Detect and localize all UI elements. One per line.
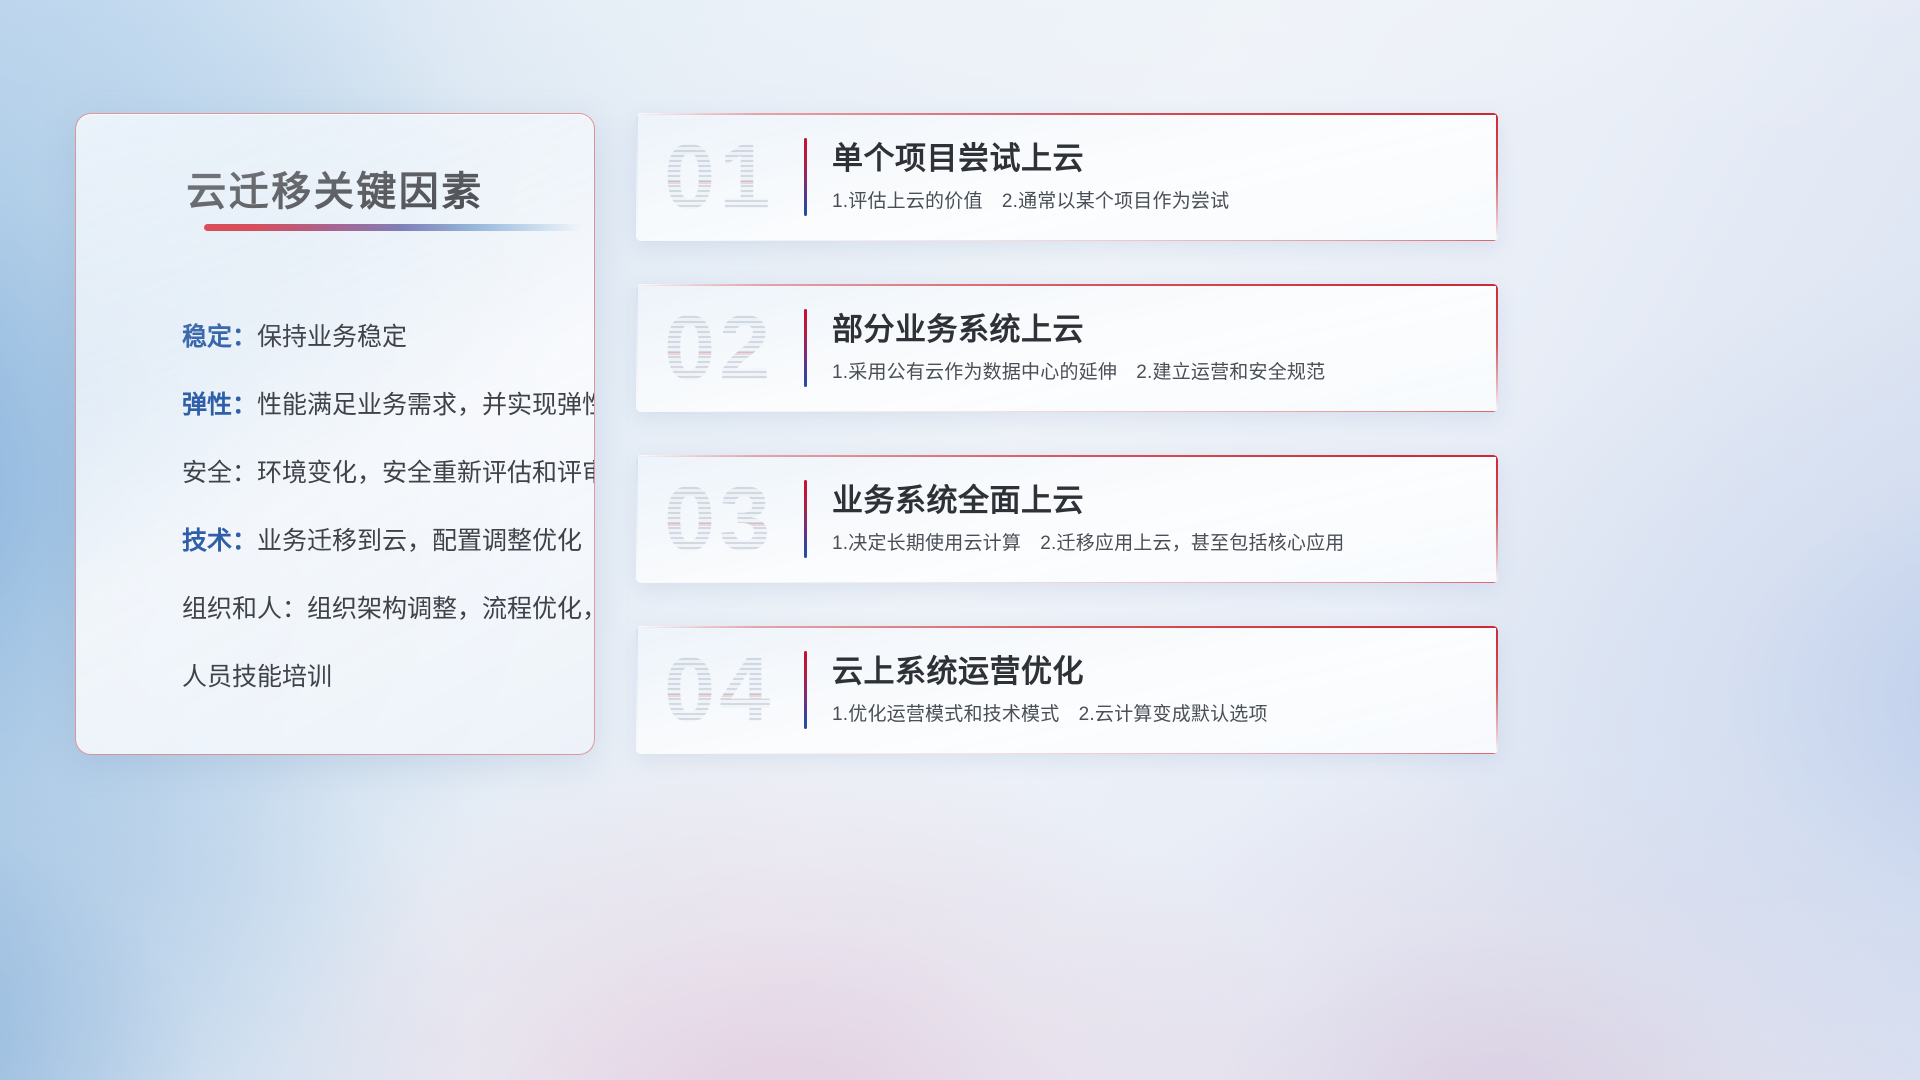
stage-divider-bar xyxy=(804,480,807,558)
stage-card-body: 单个项目尝试上云1.评估上云的价值 2.通常以某个项目作为尝试 xyxy=(832,139,1478,215)
page-title: 云迁移关键因素 xyxy=(76,159,594,217)
stage-card[interactable]: 0101单个项目尝试上云1.评估上云的价值 2.通常以某个项目作为尝试 xyxy=(636,113,1498,241)
stage-description: 1.评估上云的价值 2.通常以某个项目作为尝试 xyxy=(832,188,1478,215)
factor-text: 性能满足业务需求，并实现弹性 xyxy=(257,391,595,419)
card-edge-bottom xyxy=(636,240,1498,242)
stage-title: 部分业务系统上云 xyxy=(832,310,1478,350)
stage-description: 1.决定长期使用云计算 2.迁移应用上云，甚至包括核心应用 xyxy=(832,530,1478,557)
factor-row: 技术：业务迁移到云，配置调整优化 xyxy=(182,526,576,557)
factor-text: 组织架构调整，流程优化， xyxy=(307,595,595,623)
stage-card-body: 部分业务系统上云1.采用公有云作为数据中心的延伸 2.建立运营和安全规范 xyxy=(832,310,1478,386)
factor-text: 业务迁移到云，配置调整优化 xyxy=(257,527,582,555)
factor-row: 弹性：性能满足业务需求，并实现弹性 xyxy=(182,390,576,421)
stage-description: 1.采用公有云作为数据中心的延伸 2.建立运营和安全规范 xyxy=(832,359,1478,386)
factor-list: 稳定：保持业务稳定弹性：性能满足业务需求，并实现弹性安全：环境变化，安全重新评估… xyxy=(182,322,576,693)
card-edge-top xyxy=(636,626,1498,628)
stage-title: 单个项目尝试上云 xyxy=(832,139,1478,179)
card-edge-right xyxy=(1496,113,1498,241)
stage-description: 1.优化运营模式和技术模式 2.云计算变成默认选项 xyxy=(832,701,1478,728)
factor-label: 稳定： xyxy=(182,323,257,351)
stage-divider-bar xyxy=(804,138,807,216)
stage-card-body: 云上系统运营优化1.优化运营模式和技术模式 2.云计算变成默认选项 xyxy=(832,652,1478,728)
card-edge-left xyxy=(636,113,638,241)
card-edge-left xyxy=(636,626,638,754)
stage-number: 02 xyxy=(664,296,844,400)
stage-divider-bar xyxy=(804,309,807,387)
title-underline-rule xyxy=(204,224,582,231)
card-edge-bottom xyxy=(636,411,1498,413)
factor-row: 组织和人：组织架构调整，流程优化， xyxy=(182,594,576,625)
factor-row: 安全：环境变化，安全重新评估和评审 xyxy=(182,458,576,489)
factor-text: 环境变化，安全重新评估和评审 xyxy=(257,459,595,487)
card-edge-left xyxy=(636,284,638,412)
factor-label: 弹性： xyxy=(182,391,257,419)
card-edge-bottom xyxy=(636,753,1498,755)
stage-card-list: 0101单个项目尝试上云1.评估上云的价值 2.通常以某个项目作为尝试0202部… xyxy=(636,113,1498,754)
factor-row: 人员技能培训 xyxy=(182,662,576,693)
factor-label: 安全： xyxy=(182,459,257,487)
stage-card[interactable]: 0202部分业务系统上云1.采用公有云作为数据中心的延伸 2.建立运营和安全规范 xyxy=(636,284,1498,412)
card-edge-top xyxy=(636,455,1498,457)
card-edge-right xyxy=(1496,455,1498,583)
stage-number: 04 xyxy=(664,638,844,742)
factor-text: 人员技能培训 xyxy=(182,663,332,691)
card-edge-right xyxy=(1496,626,1498,754)
stage-card-body: 业务系统全面上云1.决定长期使用云计算 2.迁移应用上云，甚至包括核心应用 xyxy=(832,481,1478,557)
stage-title: 云上系统运营优化 xyxy=(832,652,1478,692)
factor-label: 组织和人： xyxy=(182,595,307,623)
card-edge-top xyxy=(636,113,1498,115)
factor-text: 保持业务稳定 xyxy=(257,323,407,351)
stage-divider-bar xyxy=(804,651,807,729)
factor-label: 技术： xyxy=(182,527,257,555)
card-edge-bottom xyxy=(636,582,1498,584)
factor-row: 稳定：保持业务稳定 xyxy=(182,322,576,353)
card-edge-top xyxy=(636,284,1498,286)
stage-card[interactable]: 0303业务系统全面上云1.决定长期使用云计算 2.迁移应用上云，甚至包括核心应… xyxy=(636,455,1498,583)
card-edge-right xyxy=(1496,284,1498,412)
stage-number: 01 xyxy=(664,125,844,229)
key-factors-panel: 云迁移关键因素 稳定：保持业务稳定弹性：性能满足业务需求，并实现弹性安全：环境变… xyxy=(75,113,595,755)
stage-card[interactable]: 0404云上系统运营优化1.优化运营模式和技术模式 2.云计算变成默认选项 xyxy=(636,626,1498,754)
stage-number: 03 xyxy=(664,467,844,571)
stage-title: 业务系统全面上云 xyxy=(832,481,1478,521)
card-edge-left xyxy=(636,455,638,583)
slide-stage: 云迁移关键因素 稳定：保持业务稳定弹性：性能满足业务需求，并实现弹性安全：环境变… xyxy=(0,0,1920,1080)
